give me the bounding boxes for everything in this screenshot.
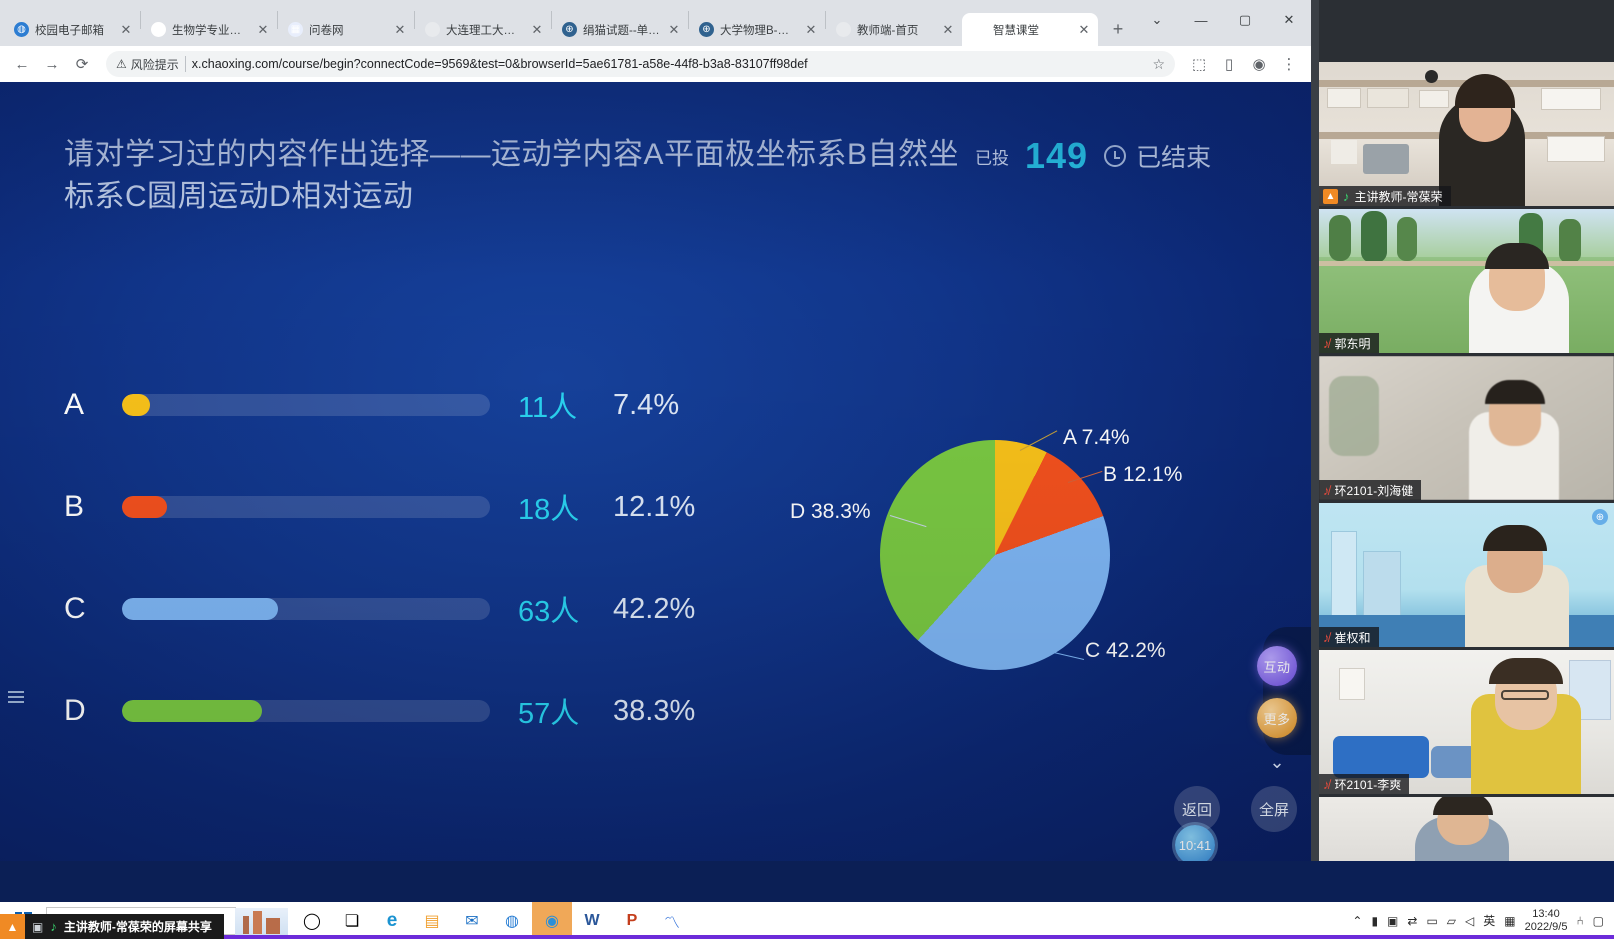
wenjuan-icon: ▦	[288, 22, 303, 37]
tab-1[interactable]: ⊕ 生物学专业大学物理 ✕	[141, 13, 277, 46]
browser-toolbar: ← → ⟳ ⚠ 风险提示 x.chaoxing.com/course/begin…	[0, 46, 1311, 82]
status-label: 已结束	[1136, 138, 1211, 174]
volume-icon[interactable]: ◁	[1465, 914, 1474, 928]
share-window-icon: ▣	[32, 920, 43, 934]
tab-strip: ◍ 校园电子邮箱 ✕ ⊕ 生物学专业大学物理 ✕ ▦ 问卷网 ✕ 大连理工大学会…	[0, 0, 1311, 46]
tab-close-icon[interactable]: ✕	[1076, 22, 1092, 38]
tab-close-icon[interactable]: ✕	[255, 22, 271, 38]
browser-icon[interactable]: ◍	[492, 902, 532, 939]
tab-4[interactable]: ⊕ 绢猫试题--单选题 ✕	[552, 13, 688, 46]
panel-rail	[1311, 0, 1319, 861]
tab-close-icon[interactable]: ✕	[940, 22, 956, 38]
tab-6[interactable]: 教师端-首页 ✕	[826, 13, 962, 46]
bar-chart: A 11人 7.4% B 18人 12.1% C	[64, 354, 724, 762]
tab-close-icon[interactable]: ✕	[392, 22, 408, 38]
browser-menu-icon[interactable]: ⋮	[1275, 50, 1303, 78]
mic-on-icon: ♪	[50, 919, 57, 934]
tab-title: 大学物理B-通知	[720, 22, 797, 38]
video-feed: ⊕	[1319, 503, 1614, 647]
task-view-icon[interactable]: ❏	[332, 902, 372, 939]
mail-icon[interactable]: ✉	[452, 902, 492, 939]
mic-off-icon: ♪̸	[1323, 483, 1330, 498]
pie-label-b: B 12.1%	[1103, 463, 1182, 487]
battery-icon[interactable]: ▮	[1371, 914, 1378, 928]
tab-title: 绢猫试题--单选题	[583, 22, 660, 38]
tab-7-active[interactable]: ⊕ 智慧课堂 ✕	[962, 13, 1098, 46]
option-letter: D	[64, 694, 122, 728]
more-button[interactable]: 更多	[1257, 698, 1297, 738]
participant-nametag: ▲ ♪ 主讲教师-常葆荣	[1319, 186, 1451, 206]
globe-badge-icon: ⊕	[1592, 509, 1608, 525]
bar-row: A 11人 7.4%	[64, 354, 724, 456]
risk-label: 风险提示	[131, 56, 179, 73]
option-percent: 12.1%	[613, 491, 695, 524]
mic-off-icon: ♪̸	[1323, 630, 1330, 645]
meeting-app-icon[interactable]: ◉	[532, 902, 572, 939]
windows-taskbar: 🔍 在这里输入你要搜索的内容 ◯ ❏ e ▤ ✉ ◍ ◉ W P 〽 ⌃ ▮ ▣…	[0, 902, 1614, 939]
option-percent: 7.4%	[613, 389, 679, 422]
option-count: 57人	[518, 690, 613, 732]
participant-nametag: ♪̸ 郭东明	[1319, 333, 1379, 353]
poll-result-slide: 请对学习过的内容作出选择——运动学内容A平面极坐标系B自然坐标系C圆周运动D相对…	[0, 82, 1311, 861]
bar-track	[122, 496, 490, 518]
network-icon[interactable]: ▱	[1447, 914, 1456, 928]
window-more-icon[interactable]: ⌄	[1135, 4, 1179, 36]
video-participant-panel: ⋮ ▲ ♪ 主讲教师-常葆荣	[1311, 0, 1614, 861]
extensions-icon[interactable]: ⬚	[1185, 50, 1213, 78]
participant-tile-4[interactable]: ♪̸ 环2101-李爽	[1319, 650, 1614, 794]
cortana-icon[interactable]: ◯	[292, 902, 332, 939]
settings-sliders-icon[interactable]: ⇄	[1407, 914, 1417, 928]
mail-globe-icon: ◍	[14, 22, 29, 37]
tab-title: 智慧课堂	[993, 22, 1070, 38]
omnibox-icons: ☆	[1152, 56, 1165, 73]
tab-2[interactable]: ▦ 问卷网 ✕	[278, 13, 414, 46]
floating-clock[interactable]: 10:41	[1175, 825, 1215, 861]
bar-fill	[122, 394, 150, 416]
option-letter: C	[64, 592, 122, 626]
globe-icon: ⊕	[699, 22, 714, 37]
warning-triangle-icon: ⚠	[116, 57, 127, 71]
mic-on-icon: ♪	[1343, 189, 1350, 204]
word-icon[interactable]: W	[572, 902, 612, 939]
participant-tile-2[interactable]: ♪̸ 环2101-刘海健	[1319, 356, 1614, 500]
share-app-icon: ▲	[0, 914, 25, 939]
tab-0[interactable]: ◍ 校园电子邮箱 ✕	[4, 13, 140, 46]
tab-title: 教师端-首页	[857, 22, 934, 38]
file-explorer-icon[interactable]: ▤	[412, 902, 452, 939]
taskbar-clock[interactable]: 13:40 2022/9/5	[1525, 908, 1568, 933]
pie-graphic	[880, 440, 1110, 670]
tab-close-icon[interactable]: ✕	[529, 22, 545, 38]
window-close-button[interactable]: ✕	[1267, 4, 1311, 36]
option-letter: B	[64, 490, 122, 524]
pie-label-c: C 42.2%	[1085, 639, 1166, 663]
page-title: 请对学习过的内容作出选择——运动学内容A平面极坐标系B自然坐标系C圆周运动D相对…	[64, 134, 974, 218]
tab-5[interactable]: ⊕ 大学物理B-通知 ✕	[689, 13, 825, 46]
address-bar[interactable]: ⚠ 风险提示 x.chaoxing.com/course/begin?conne…	[106, 51, 1175, 77]
participant-name: 郭东明	[1335, 335, 1371, 352]
back-icon[interactable]: ←	[8, 50, 36, 78]
option-count: 18人	[518, 486, 613, 528]
status-badge: 已结束	[1104, 138, 1211, 174]
pie-label-a: A 7.4%	[1063, 426, 1130, 450]
option-letter: A	[64, 388, 122, 422]
bar-row: D 57人 38.3%	[64, 660, 724, 762]
option-count: 11人	[518, 384, 613, 426]
voted-count: 149	[1025, 135, 1088, 177]
screen-share-notice[interactable]: ▲ ▣ ♪ 主讲教师-常葆荣的屏幕共享	[0, 914, 224, 939]
participant-name: 主讲教师-常葆荣	[1355, 188, 1443, 205]
video-feed	[1319, 356, 1614, 500]
tab-3[interactable]: 大连理工大学会课程 ✕	[415, 13, 551, 46]
participant-name: 环2101-李爽	[1335, 776, 1402, 793]
video-feed	[1319, 209, 1614, 353]
powerpoint-icon[interactable]: P	[612, 902, 652, 939]
bar-fill	[122, 496, 167, 518]
pie-chart	[880, 440, 1110, 670]
bar-track	[122, 598, 490, 620]
ime-language-icon[interactable]: 英	[1483, 912, 1495, 929]
blank-icon	[836, 22, 851, 37]
display-icon[interactable]: ▭	[1426, 914, 1437, 928]
omnibox-divider	[185, 56, 186, 72]
video-feed	[1319, 797, 1614, 861]
participant-tile-1[interactable]: ♪̸ 郭东明	[1319, 209, 1614, 353]
clock-date: 2022/9/5	[1525, 921, 1568, 934]
browser-window: ◍ 校园电子邮箱 ✕ ⊕ 生物学专业大学物理 ✕ ▦ 问卷网 ✕ 大连理工大学会…	[0, 0, 1311, 861]
interact-button[interactable]: 互动	[1257, 646, 1297, 686]
bar-fill	[122, 700, 262, 722]
chart-app-icon[interactable]: 〽	[652, 902, 692, 939]
bar-fill	[122, 598, 278, 620]
share-notice-text: 主讲教师-常葆荣的屏幕共享	[64, 918, 212, 935]
blank-icon	[425, 22, 440, 37]
voted-label: 已投	[975, 144, 1009, 169]
edge-icon[interactable]: e	[372, 902, 412, 939]
fullscreen-button[interactable]: 全屏	[1251, 786, 1297, 832]
url-text: x.chaoxing.com/course/begin?connectCode=…	[192, 57, 1147, 71]
window-maximize-button[interactable]: ▢	[1223, 4, 1267, 36]
globe-icon: ⊕	[151, 22, 166, 37]
tab-close-icon[interactable]: ✕	[803, 22, 819, 38]
tab-close-icon[interactable]: ✕	[118, 22, 134, 38]
reload-icon[interactable]: ⟳	[68, 50, 96, 78]
clock-time: 13:40	[1532, 908, 1560, 921]
participant-tile-5[interactable]	[1319, 797, 1614, 861]
bottom-accent-strip	[0, 935, 1614, 939]
video-feed	[1319, 650, 1614, 794]
mic-off-icon: ♪̸	[1323, 336, 1330, 351]
tray-expand-icon[interactable]: ⌃	[1352, 914, 1362, 928]
globe-icon: ⊕	[972, 22, 987, 37]
chevron-down-icon[interactable]: ⌄	[1257, 746, 1297, 778]
profile-avatar-icon[interactable]: ◉	[1245, 50, 1273, 78]
window-minimize-button[interactable]: —	[1179, 4, 1223, 36]
clock-icon	[1104, 145, 1126, 167]
risk-warning[interactable]: ⚠ 风险提示	[116, 56, 179, 73]
forward-icon[interactable]: →	[38, 50, 66, 78]
tab-title: 生物学专业大学物理	[172, 22, 249, 38]
participant-tile-0[interactable]: ▲ ♪ 主讲教师-常葆荣	[1319, 62, 1614, 206]
window-controls: ⌄ — ▢ ✕	[1135, 0, 1311, 40]
bar-row: B 18人 12.1%	[64, 456, 724, 558]
tab-title: 校园电子邮箱	[35, 22, 112, 38]
bar-row: C 63人 42.2%	[64, 558, 724, 660]
globe-icon: ⊕	[562, 22, 577, 37]
participant-nametag: ♪̸ 崔权和	[1319, 627, 1379, 647]
participant-tile-3[interactable]: ⊕ ♪̸ 崔权和	[1319, 503, 1614, 647]
mic-off-icon: ♪̸	[1323, 777, 1330, 792]
poll-meta: 已投 149 已结束	[975, 134, 1211, 178]
search-thumbnail	[235, 908, 288, 936]
tab-close-icon[interactable]: ✕	[666, 22, 682, 38]
option-percent: 38.3%	[613, 695, 695, 728]
system-tray: ⌃ ▮ ▣ ⇄ ▭ ▱ ◁ 英 ▦ 13:40 2022/9/5 ⑃ ▢	[1352, 908, 1614, 933]
bar-track	[122, 394, 490, 416]
participant-nametag: ♪̸ 环2101-刘海健	[1319, 480, 1421, 500]
bar-track	[122, 700, 490, 722]
notifications-icon[interactable]: ▢	[1593, 914, 1604, 928]
option-count: 63人	[518, 588, 613, 630]
pie-label-d: D 38.3%	[790, 500, 871, 524]
bookmark-star-icon[interactable]: ☆	[1152, 56, 1165, 73]
list-toggle-icon[interactable]	[8, 686, 30, 708]
picture-icon[interactable]: ▣	[1387, 914, 1398, 928]
tab-title: 大连理工大学会课程	[446, 22, 523, 38]
participant-name: 环2101-刘海健	[1335, 482, 1414, 499]
participant-nametag: ♪̸ 环2101-李爽	[1319, 774, 1409, 794]
participant-name: 崔权和	[1335, 629, 1371, 646]
video-feed	[1319, 62, 1614, 206]
option-percent: 42.2%	[613, 593, 695, 626]
tab-title: 问卷网	[309, 22, 386, 38]
host-icon: ▲	[1323, 189, 1338, 204]
stats-icon[interactable]: ⑃	[1576, 914, 1583, 928]
new-tab-button[interactable]: +	[1104, 15, 1132, 43]
ime-mode-icon[interactable]: ▦	[1504, 914, 1515, 928]
side-panel-icon[interactable]: ▯	[1215, 50, 1243, 78]
